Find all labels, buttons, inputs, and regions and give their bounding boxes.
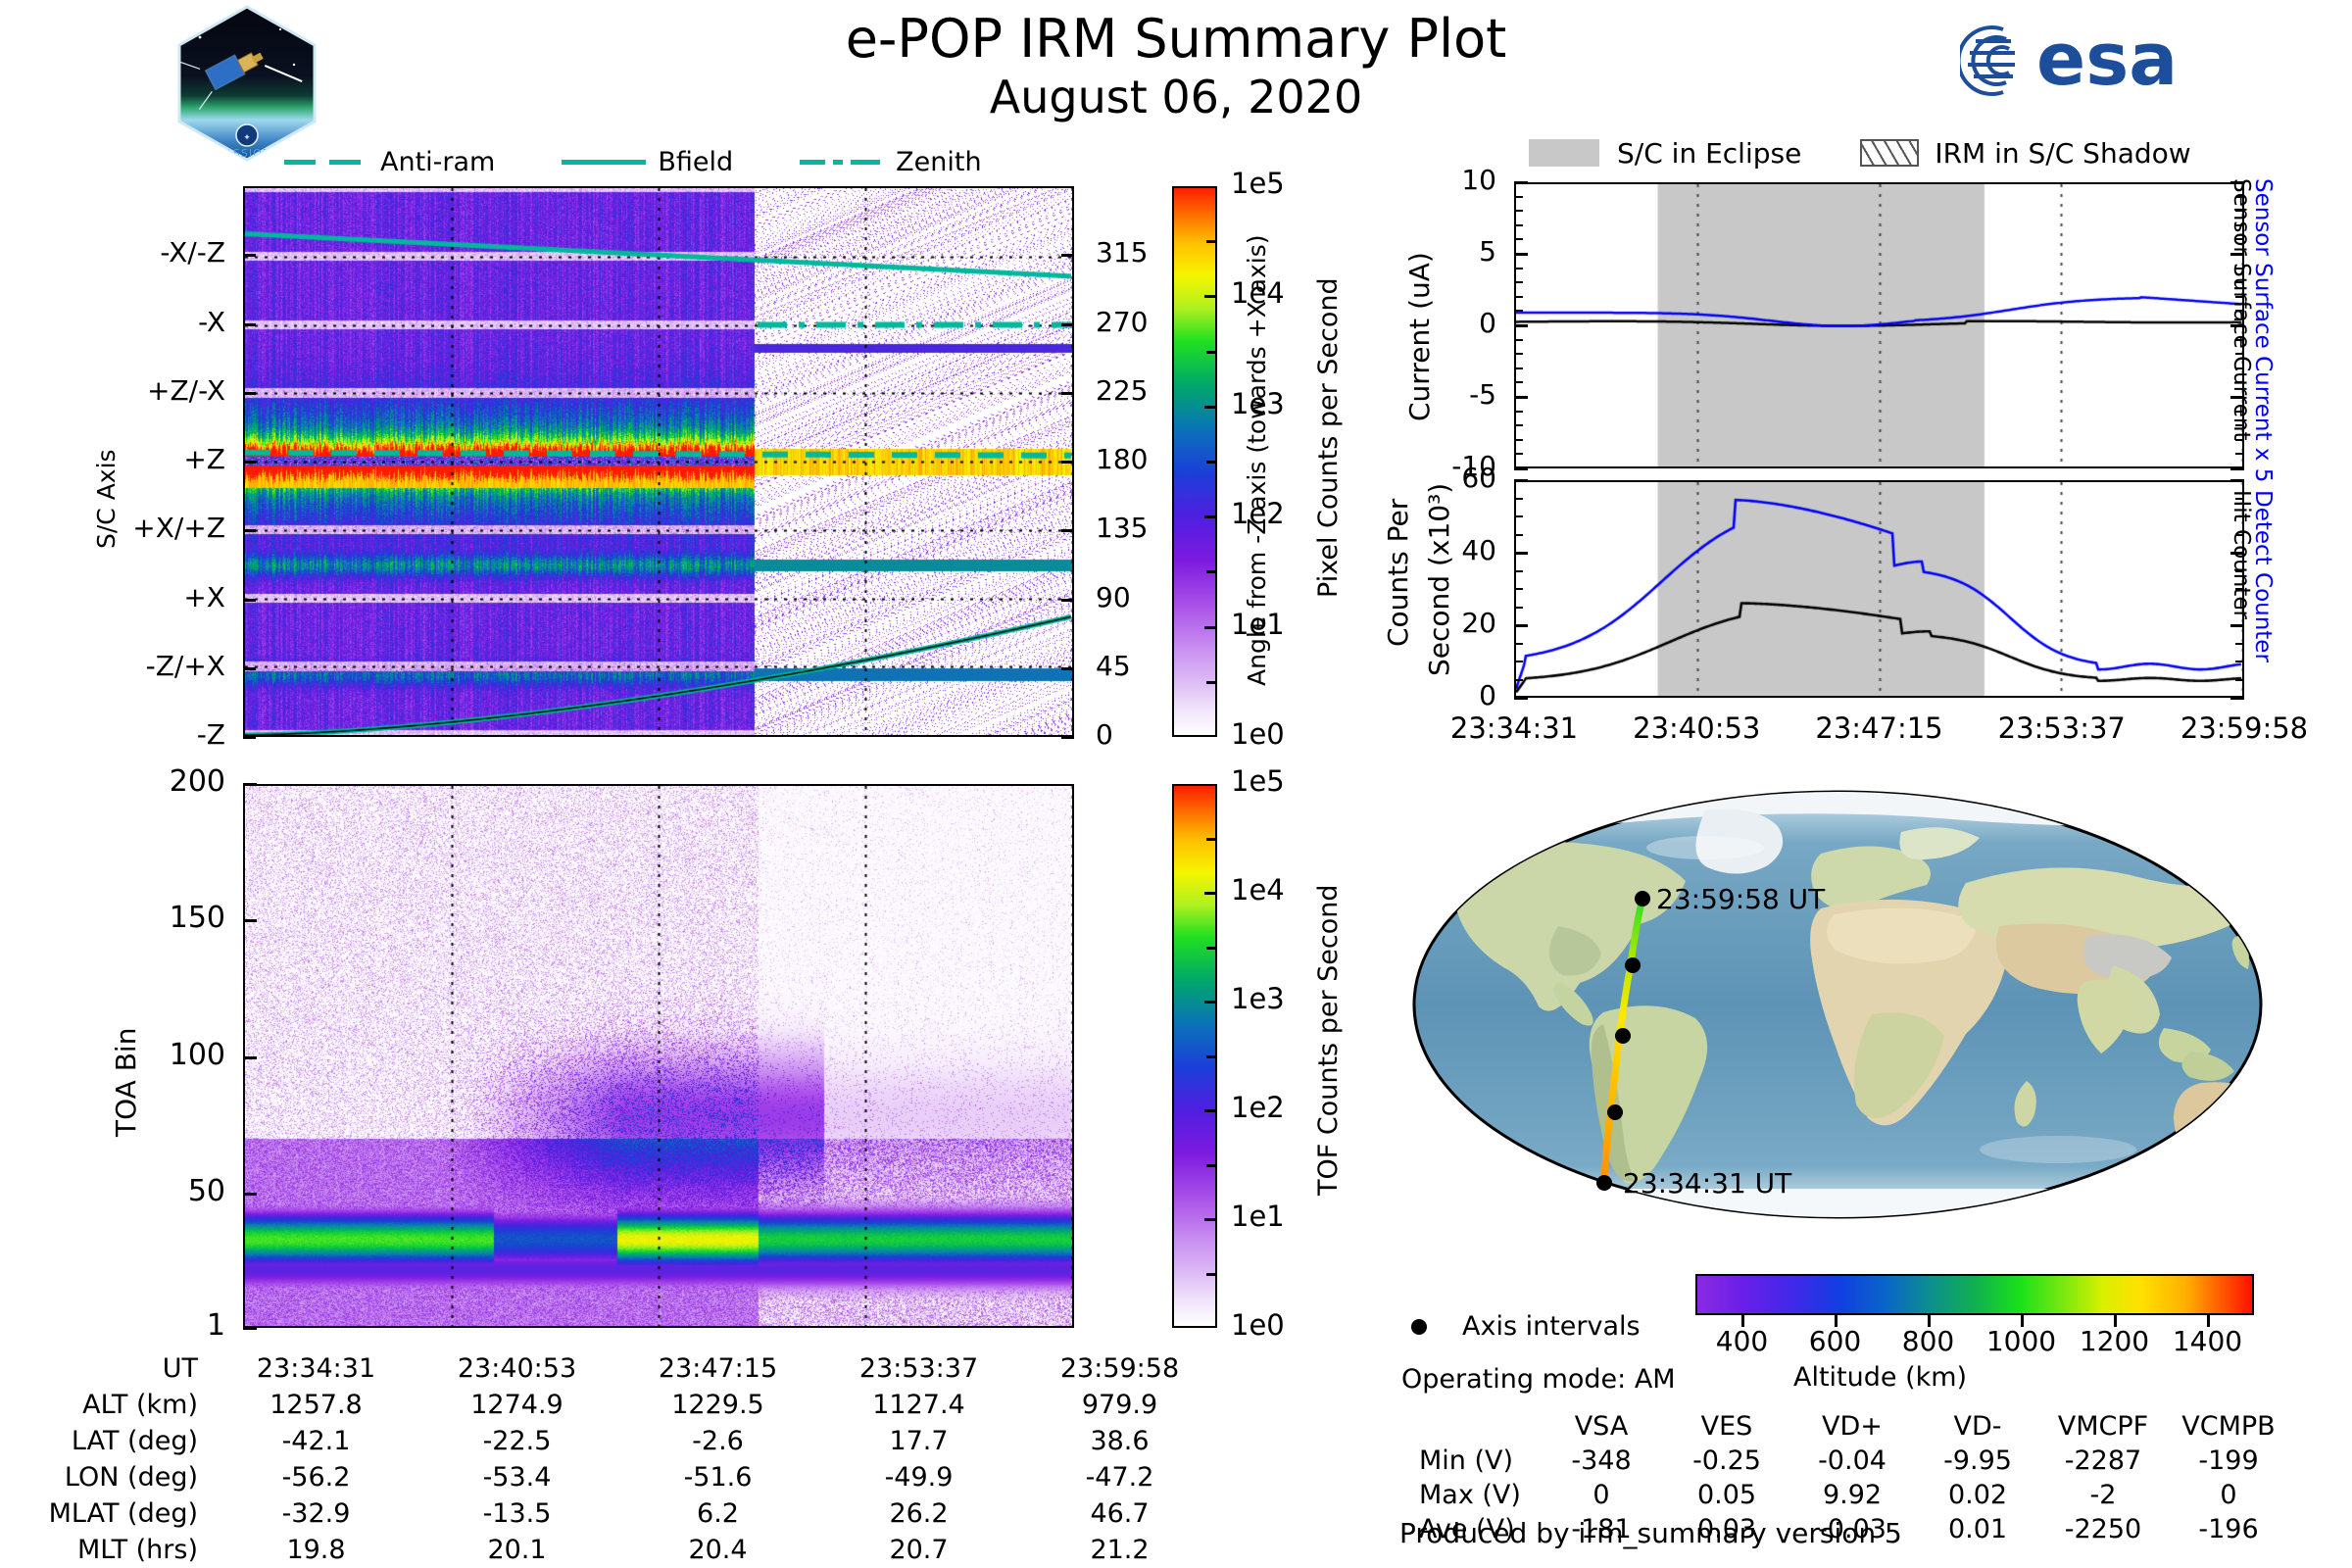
angle-right-tick: 0 — [1096, 718, 1184, 751]
ephemeris-table: UT23:34:3123:40:5323:47:1523:53:3723:59:… — [20, 1350, 1220, 1568]
current-minor-tickmark — [1514, 353, 1523, 355]
ephemeris-row: MLT (hrs)19.820.120.420.721.2 — [20, 1532, 1220, 1568]
counts-right-tickmark — [2235, 661, 2244, 662]
produced-by-footer: Produced by irm_summary version 5 — [1399, 1517, 1902, 1549]
ephemeris-cell: 26.2 — [818, 1495, 1019, 1532]
colorbar-tick-label: 1e4 — [1231, 873, 1285, 906]
voltage-cell: -0.25 — [1664, 1444, 1789, 1478]
toa-ytick: 100 — [39, 1038, 225, 1072]
current-ytickmark — [1514, 253, 1528, 256]
colorbar-minor-tickmark — [1206, 947, 1217, 950]
counts-right-tickmark — [2230, 479, 2244, 482]
counts-ytickmark — [1514, 479, 1528, 482]
ephemeris-cell: 23:59:58 — [1019, 1350, 1220, 1387]
counts-minor-tickmark — [1514, 607, 1523, 609]
angle-left-tickmark — [243, 461, 256, 464]
voltage-row: Max (V)00.059.920.02-20 — [1392, 1478, 2291, 1512]
angle-left-tick: -X — [39, 306, 225, 338]
colorbar-minor-tickmark — [1206, 351, 1217, 354]
angle-spectrogram-panel — [243, 186, 1074, 737]
toa-ytick: 150 — [39, 901, 225, 935]
ephemeris-row-label: MLT (hrs) — [20, 1532, 216, 1568]
voltage-column-header: VD+ — [1789, 1409, 1915, 1444]
eclipse-legend-label: S/C in Eclipse — [1617, 137, 1801, 170]
voltage-cell: -199 — [2166, 1444, 2291, 1478]
angle-right-tickmark — [1061, 667, 1074, 670]
altitude-tick-label: 1400 — [2149, 1325, 2267, 1357]
svg-text:23:34:31 UT: 23:34:31 UT — [1623, 1167, 1792, 1200]
angle-left-tick: -X/-Z — [39, 236, 225, 269]
current-minor-tickmark — [1514, 224, 1523, 226]
current-ytick: 0 — [1387, 307, 1496, 339]
current-ytick: 10 — [1387, 164, 1496, 196]
colorbar-minor-tickmark — [1206, 1273, 1217, 1276]
angle-left-tick: -Z/+X — [39, 650, 225, 682]
ephemeris-cell: -53.4 — [416, 1459, 617, 1495]
shadow-legend-label: IRM in S/C Shadow — [1935, 137, 2190, 170]
toa-ytickmark — [243, 783, 257, 786]
voltage-row-label: Max (V) — [1392, 1478, 1539, 1512]
esa-logo: esa — [1960, 12, 2254, 110]
colorbar-minor-tickmark — [1206, 1164, 1217, 1167]
pixel-counts-colorbar-label: Pixel Counts per Second — [1313, 277, 1344, 598]
ephemeris-cell: -42.1 — [216, 1423, 416, 1459]
toa-ytick: 1 — [39, 1308, 225, 1343]
ephemeris-cell: -22.5 — [416, 1423, 617, 1459]
colorbar-tickmark — [1204, 515, 1217, 518]
colorbar-tickmark — [1204, 1109, 1217, 1112]
ephemeris-cell: 1274.9 — [416, 1387, 617, 1423]
toa-ytickmark — [243, 1193, 257, 1196]
angle-left-tickmark — [243, 254, 256, 257]
ephemeris-cell: -47.2 — [1019, 1459, 1220, 1495]
ephemeris-cell: 38.6 — [1019, 1423, 1220, 1459]
axis-intervals-label: Axis intervals — [1462, 1311, 1641, 1342]
voltage-cell: 0 — [2166, 1478, 2291, 1512]
ephemeris-row: UT23:34:3123:40:5323:47:1523:53:3723:59:… — [20, 1350, 1220, 1387]
angle-spectrogram-canvas — [245, 188, 1072, 735]
colorbar-tick-label: 1e5 — [1231, 167, 1285, 200]
ephemeris-table-body: UT23:34:3123:40:5323:47:1523:53:3723:59:… — [20, 1350, 1220, 1568]
ephemeris-row: LON (deg)-56.2-53.4-51.6-49.9-47.2 — [20, 1459, 1220, 1495]
colorbar-tickmark — [1204, 1001, 1217, 1004]
counts-ytick: 40 — [1387, 534, 1496, 566]
colorbar-tickmark — [1204, 1218, 1217, 1221]
current-minor-tickmark — [1514, 281, 1523, 283]
voltage-column-header: VES — [1664, 1409, 1789, 1444]
current-right-label-black: Sensor Surface Current — [2229, 178, 2254, 440]
toa-spectrogram-panel — [243, 784, 1074, 1328]
voltage-cell: -196 — [2166, 1512, 2291, 1546]
angle-left-tick: +Z/-X — [39, 374, 225, 407]
angle-right-tickmark — [1061, 254, 1074, 257]
legend-label-zenith: Zenith — [896, 147, 981, 177]
ephemeris-cell: 6.2 — [617, 1495, 818, 1532]
altitude-tickmark — [1928, 1315, 1931, 1327]
eclipse-swatch-icon — [1529, 139, 1599, 167]
angle-left-tickmark — [243, 599, 256, 602]
cassiope-logo: ✦ CASSIOPE — [174, 4, 319, 163]
colorbar-tick-label: 1e0 — [1231, 717, 1285, 751]
colorbar-tickmark — [1204, 892, 1217, 895]
voltage-cell: -348 — [1539, 1444, 1664, 1478]
angle-right-tick: 270 — [1096, 306, 1184, 338]
ephemeris-cell: 23:47:15 — [617, 1350, 818, 1387]
ground-track-map: 23:59:58 UT 23:34:31 UT — [1411, 789, 2264, 1220]
counts-minor-tickmark — [1514, 643, 1523, 645]
ephemeris-cell: 20.7 — [818, 1532, 1019, 1568]
voltage-row: Min (V)-348-0.25-0.04-9.95-2287-199 — [1392, 1444, 2291, 1478]
ephemeris-cell: 23:53:37 — [818, 1350, 1019, 1387]
current-minor-tickmark — [1514, 310, 1523, 312]
altitude-colorbar-label: Altitude (km) — [1793, 1362, 1967, 1393]
angle-right-tickmark — [1061, 599, 1074, 602]
angle-left-tick: +Z — [39, 443, 225, 475]
voltage-cell: -9.95 — [1915, 1444, 2040, 1478]
spectrogram-legend: Anti-ram Bfield Zenith — [284, 145, 1009, 178]
colorbar-tickmark — [1204, 406, 1217, 409]
zenith-line-icon — [800, 152, 884, 171]
voltage-cell: 9.92 — [1789, 1478, 1915, 1512]
counts-ytick: 20 — [1387, 607, 1496, 639]
counts-right-tickmark — [2235, 643, 2244, 645]
ephemeris-row: ALT (km)1257.81274.91229.51127.4979.9 — [20, 1387, 1220, 1423]
ephemeris-cell: -2.6 — [617, 1423, 818, 1459]
ephemeris-cell: 1257.8 — [216, 1387, 416, 1423]
altitude-colorbar — [1695, 1274, 2254, 1315]
ephemeris-cell: -13.5 — [416, 1495, 617, 1532]
angle-right-tick: 225 — [1096, 374, 1184, 407]
colorbar-tick-label: 1e4 — [1231, 276, 1285, 310]
current-minor-tickmark — [1514, 381, 1523, 383]
ephemeris-cell: 979.9 — [1019, 1387, 1220, 1423]
angle-left-tick: -Z — [39, 718, 225, 751]
ephemeris-row-label: LON (deg) — [20, 1459, 216, 1495]
toa-spectrogram-canvas — [245, 786, 1072, 1326]
current-ytick: 5 — [1387, 235, 1496, 268]
voltage-column-header: VSA — [1539, 1409, 1664, 1444]
ephemeris-cell: 19.8 — [216, 1532, 416, 1568]
counts-minor-tickmark — [1514, 570, 1523, 572]
angle-right-tickmark — [1061, 323, 1074, 326]
toa-ytickmark — [243, 1327, 257, 1330]
counts-right-label-black: Hit Counter — [2229, 490, 2254, 619]
voltage-header-blank — [1392, 1409, 1539, 1444]
angle-right-tick: 180 — [1096, 443, 1184, 475]
ephemeris-cell: -49.9 — [818, 1459, 1019, 1495]
angle-left-tickmark — [243, 667, 256, 670]
ephemeris-row-label: ALT (km) — [20, 1387, 216, 1423]
counts-right-tickmark — [2235, 679, 2244, 681]
legend-item-zenith: Zenith — [800, 147, 981, 177]
colorbar-tick-label: 1e1 — [1231, 608, 1285, 641]
voltage-cell: -2250 — [2040, 1512, 2166, 1546]
voltage-cell: -2287 — [2040, 1444, 2166, 1478]
colorbar-minor-tickmark — [1206, 681, 1217, 684]
current-right-tickmark — [2235, 453, 2244, 455]
counts-right-tickmark — [2230, 624, 2244, 627]
ephemeris-cell: 20.4 — [617, 1532, 818, 1568]
angle-left-tickmark — [243, 392, 256, 395]
voltage-cell: -2 — [2040, 1478, 2166, 1512]
current-minor-tickmark — [1514, 411, 1523, 413]
counts-ytick: 0 — [1387, 679, 1496, 711]
ephemeris-cell: 21.2 — [1019, 1532, 1220, 1568]
counts-right-tickmark — [2230, 697, 2244, 700]
colorbar-minor-tickmark — [1206, 570, 1217, 573]
bfield-line-icon — [562, 152, 646, 171]
counts-minor-tickmark — [1514, 515, 1523, 517]
voltage-column-header: VMCPF — [2040, 1409, 2166, 1444]
legend-label-anti-ram: Anti-ram — [380, 147, 495, 177]
angle-left-tickmark — [243, 736, 256, 739]
axis-intervals-legend: Axis intervals — [1411, 1311, 1641, 1342]
angle-right-tickmark — [1061, 461, 1074, 464]
counts-panel — [1514, 480, 2244, 698]
angle-right-tick: 45 — [1096, 650, 1184, 682]
voltage-cell: 0.01 — [1915, 1512, 2040, 1546]
voltage-row-label: Min (V) — [1392, 1444, 1539, 1478]
svg-text:esa: esa — [2036, 18, 2178, 102]
colorbar-tick-label: 1e2 — [1231, 497, 1285, 530]
colorbar-tick-label: 1e2 — [1231, 1091, 1285, 1124]
tof-counts-colorbar-label: TOF Counts per Second — [1313, 885, 1344, 1197]
voltage-cell: 0.05 — [1664, 1478, 1789, 1512]
colorbar-minor-tickmark — [1206, 461, 1217, 464]
page-date: August 06, 2020 — [588, 71, 1764, 123]
counts-ytick: 60 — [1387, 462, 1496, 494]
colorbar-tick-label: 1e5 — [1231, 764, 1285, 798]
current-minor-tickmark — [1514, 339, 1523, 341]
counts-ytickmark — [1514, 624, 1528, 627]
current-minor-tickmark — [1514, 424, 1523, 426]
counts-ytickmark — [1514, 552, 1528, 555]
legend-label-bfield: Bfield — [658, 147, 733, 177]
voltage-cell: 0 — [1539, 1478, 1664, 1512]
colorbar-tickmark — [1204, 626, 1217, 629]
ephemeris-cell: -51.6 — [617, 1459, 818, 1495]
voltage-header-row: VSAVESVD+VD-VMCPFVCMPB — [1392, 1409, 2291, 1444]
voltage-cell: 0.02 — [1915, 1478, 2040, 1512]
angle-right-tick: 315 — [1096, 236, 1184, 269]
current-plot-canvas — [1516, 184, 2242, 466]
ephemeris-cell: 23:34:31 — [216, 1350, 416, 1387]
svg-text:23:59:58 UT: 23:59:58 UT — [1656, 883, 1826, 915]
ephemeris-cell: 23:40:53 — [416, 1350, 617, 1387]
ephemeris-cell: 17.7 — [818, 1423, 1019, 1459]
current-minor-tickmark — [1514, 268, 1523, 269]
current-minor-tickmark — [1514, 453, 1523, 455]
angle-right-tickmark — [1061, 392, 1074, 395]
ephemeris-cell: 20.1 — [416, 1532, 617, 1568]
counts-minor-tickmark — [1514, 661, 1523, 662]
legend-item-anti-ram: Anti-ram — [284, 147, 495, 177]
counts-ytickmark — [1514, 697, 1528, 700]
toa-ytickmark — [243, 1056, 257, 1059]
colorbar-tick-label: 1e3 — [1231, 982, 1285, 1015]
counts-minor-tickmark — [1514, 679, 1523, 681]
altitude-tickmark — [2114, 1315, 2117, 1327]
angle-left-tickmark — [243, 529, 256, 532]
page-title: e-POP IRM Summary Plot — [588, 8, 1764, 70]
svg-text:✦: ✦ — [243, 133, 251, 143]
colorbar-tick-label: 1e1 — [1231, 1200, 1285, 1233]
current-ytick: -5 — [1387, 378, 1496, 411]
angle-left-tickmark — [243, 323, 256, 326]
current-minor-tickmark — [1514, 210, 1523, 212]
current-right-tickmark — [2230, 467, 2244, 470]
anti-ram-line-icon — [284, 152, 368, 171]
altitude-tickmark — [2021, 1315, 2024, 1327]
colorbar-tick-label: 1e3 — [1231, 387, 1285, 420]
current-minor-tickmark — [1514, 238, 1523, 240]
voltage-cell: -0.04 — [1789, 1444, 1915, 1478]
colorbar-tick-label: 1e0 — [1231, 1308, 1285, 1342]
angle-right-tick: 135 — [1096, 512, 1184, 544]
current-ytickmark — [1514, 181, 1528, 184]
current-ytickmark — [1514, 396, 1528, 399]
angle-right-tickmark — [1061, 529, 1074, 532]
altitude-tickmark — [2207, 1315, 2210, 1327]
voltage-column-header: VCMPB — [2166, 1409, 2291, 1444]
current-ytickmark — [1514, 324, 1528, 327]
counts-minor-tickmark — [1514, 588, 1523, 590]
colorbar-tickmark — [1204, 295, 1217, 298]
colorbar-minor-tickmark — [1206, 1055, 1217, 1058]
ephemeris-cell: -32.9 — [216, 1495, 416, 1532]
toa-ytick: 200 — [39, 764, 225, 799]
axis-interval-dot-icon — [1411, 1319, 1427, 1335]
colorbar-minor-tickmark — [1206, 838, 1217, 841]
altitude-tickmark — [1835, 1315, 1837, 1327]
current-minor-tickmark — [1514, 296, 1523, 298]
current-minor-tickmark — [1514, 196, 1523, 198]
counts-plot-canvas — [1516, 482, 2242, 696]
current-ytickmark — [1514, 467, 1528, 470]
counts-panel-ylabel-line2: Second (x10³) — [1423, 483, 1455, 676]
current-panel — [1514, 182, 2244, 468]
time-axis-tick: 23:59:58 — [2136, 711, 2352, 745]
ephemeris-cell: 46.7 — [1019, 1495, 1220, 1532]
altitude-tickmark — [1741, 1315, 1744, 1327]
angle-right-tickmark — [1061, 736, 1074, 739]
toa-ytick: 50 — [39, 1174, 225, 1208]
legend-item-bfield: Bfield — [562, 147, 733, 177]
ephemeris-cell: -56.2 — [216, 1459, 416, 1495]
colorbar-minor-tickmark — [1206, 240, 1217, 243]
ephemeris-cell: 1127.4 — [818, 1387, 1019, 1423]
operating-mode-label: Operating mode: AM — [1401, 1364, 1676, 1395]
toa-ytickmark — [243, 919, 257, 922]
ephemeris-row: MLAT (deg)-32.9-13.56.226.246.7 — [20, 1495, 1220, 1532]
angle-left-tick: +X/+Z — [39, 512, 225, 544]
ephemeris-row: LAT (deg)-42.1-22.5-2.617.738.6 — [20, 1423, 1220, 1459]
counts-minor-tickmark — [1514, 498, 1523, 500]
counts-minor-tickmark — [1514, 534, 1523, 536]
ephemeris-cell: 1229.5 — [617, 1387, 818, 1423]
ephemeris-row-label: UT — [20, 1350, 216, 1387]
ephemeris-row-label: MLAT (deg) — [20, 1495, 216, 1532]
current-minor-tickmark — [1514, 439, 1523, 441]
angle-right-tick: 90 — [1096, 581, 1184, 613]
angle-left-tick: +X — [39, 581, 225, 613]
eclipse-shadow-legend: S/C in Eclipse IRM in S/C Shadow — [1529, 135, 2274, 171]
current-minor-tickmark — [1514, 367, 1523, 369]
ephemeris-row-label: LAT (deg) — [20, 1423, 216, 1459]
shadow-hatch-icon — [1860, 139, 1919, 167]
voltage-column-header: VD- — [1915, 1409, 2040, 1444]
